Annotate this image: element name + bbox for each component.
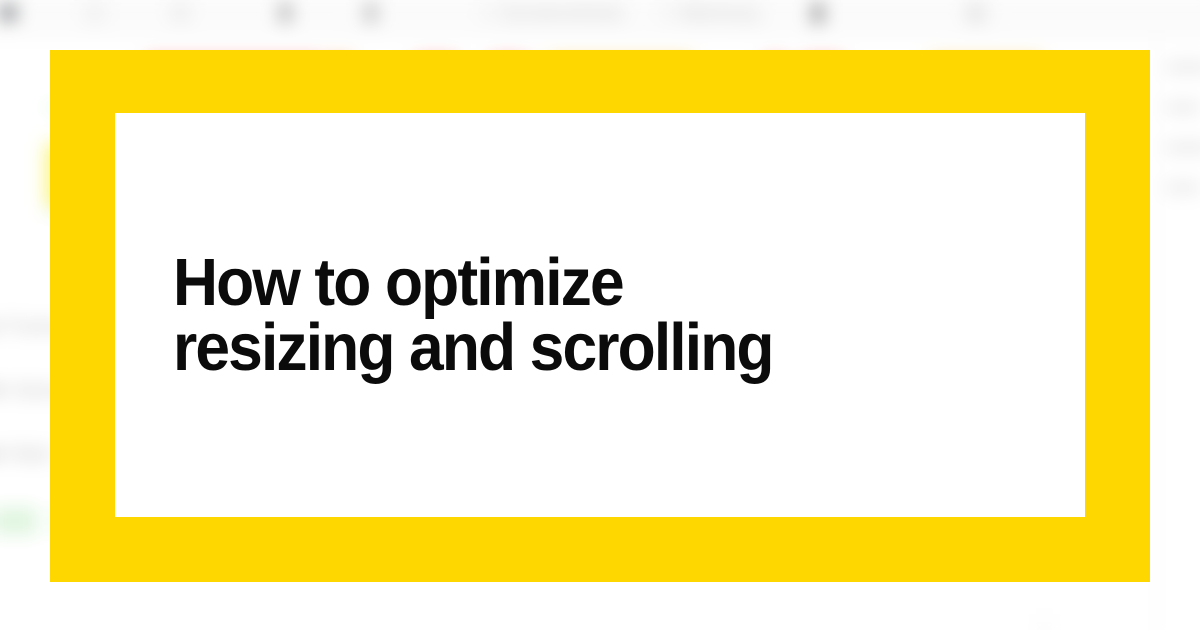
record-button[interactable] bbox=[1, 5, 16, 20]
clear-button[interactable] bbox=[172, 4, 190, 22]
load-profile-icon[interactable] bbox=[282, 4, 289, 22]
memory-label: Memory bbox=[681, 0, 760, 25]
screenshots-checkbox-group[interactable]: Screenshots bbox=[483, 0, 624, 25]
gear-icon[interactable] bbox=[814, 3, 821, 22]
performance-toolbar: Screenshots Memory bbox=[0, 0, 1200, 36]
page-title: How to optimize resizing and scrolling bbox=[173, 250, 773, 380]
summary-row bbox=[1165, 143, 1200, 152]
title-card: How to optimize resizing and scrolling bbox=[115, 113, 1085, 517]
memory-checkbox[interactable] bbox=[663, 7, 674, 18]
summary-row bbox=[1165, 103, 1200, 112]
screenshot-stage: Screenshots Memory bbox=[0, 0, 1200, 630]
screenshots-label: Screenshots bbox=[501, 0, 624, 25]
reload-and-profile-button[interactable] bbox=[86, 4, 104, 22]
summary-row bbox=[1165, 183, 1200, 192]
memory-checkbox-group[interactable]: Memory bbox=[663, 0, 761, 25]
summary-sidebar bbox=[1156, 36, 1200, 630]
save-profile-icon[interactable] bbox=[367, 4, 374, 22]
more-options-icon[interactable] bbox=[966, 2, 987, 23]
summary-row bbox=[1165, 63, 1200, 72]
vertical-scrollbar[interactable] bbox=[1043, 615, 1046, 630]
painting-bar[interactable] bbox=[0, 508, 38, 535]
screenshots-checkbox[interactable] bbox=[483, 7, 494, 18]
